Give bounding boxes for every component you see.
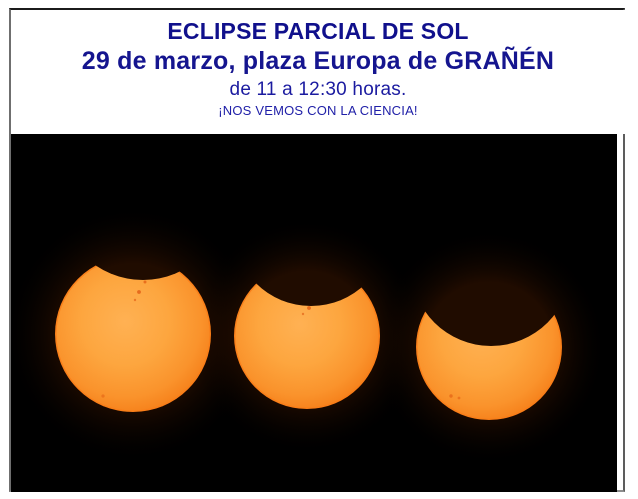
eclipse-phase-1 — [55, 256, 211, 412]
eclipse-photo-panel — [11, 134, 617, 492]
poster-title-date-place: 29 de marzo, plaza Europa de GRAÑÉN — [11, 46, 625, 76]
poster-title-main: ECLIPSE PARCIAL DE SOL — [11, 18, 625, 44]
poster-tagline: ¡NOS VEMOS CON LA CIENCIA! — [11, 103, 625, 119]
eclipse-poster: ECLIPSE PARCIAL DE SOL 29 de marzo, plaz… — [0, 0, 638, 499]
eclipse-phase-3 — [416, 274, 562, 420]
poster-header: ECLIPSE PARCIAL DE SOL 29 de marzo, plaz… — [11, 10, 625, 134]
eclipse-photo-svg — [11, 134, 617, 492]
poster-subtitle-time: de 11 a 12:30 horas. — [11, 79, 625, 101]
